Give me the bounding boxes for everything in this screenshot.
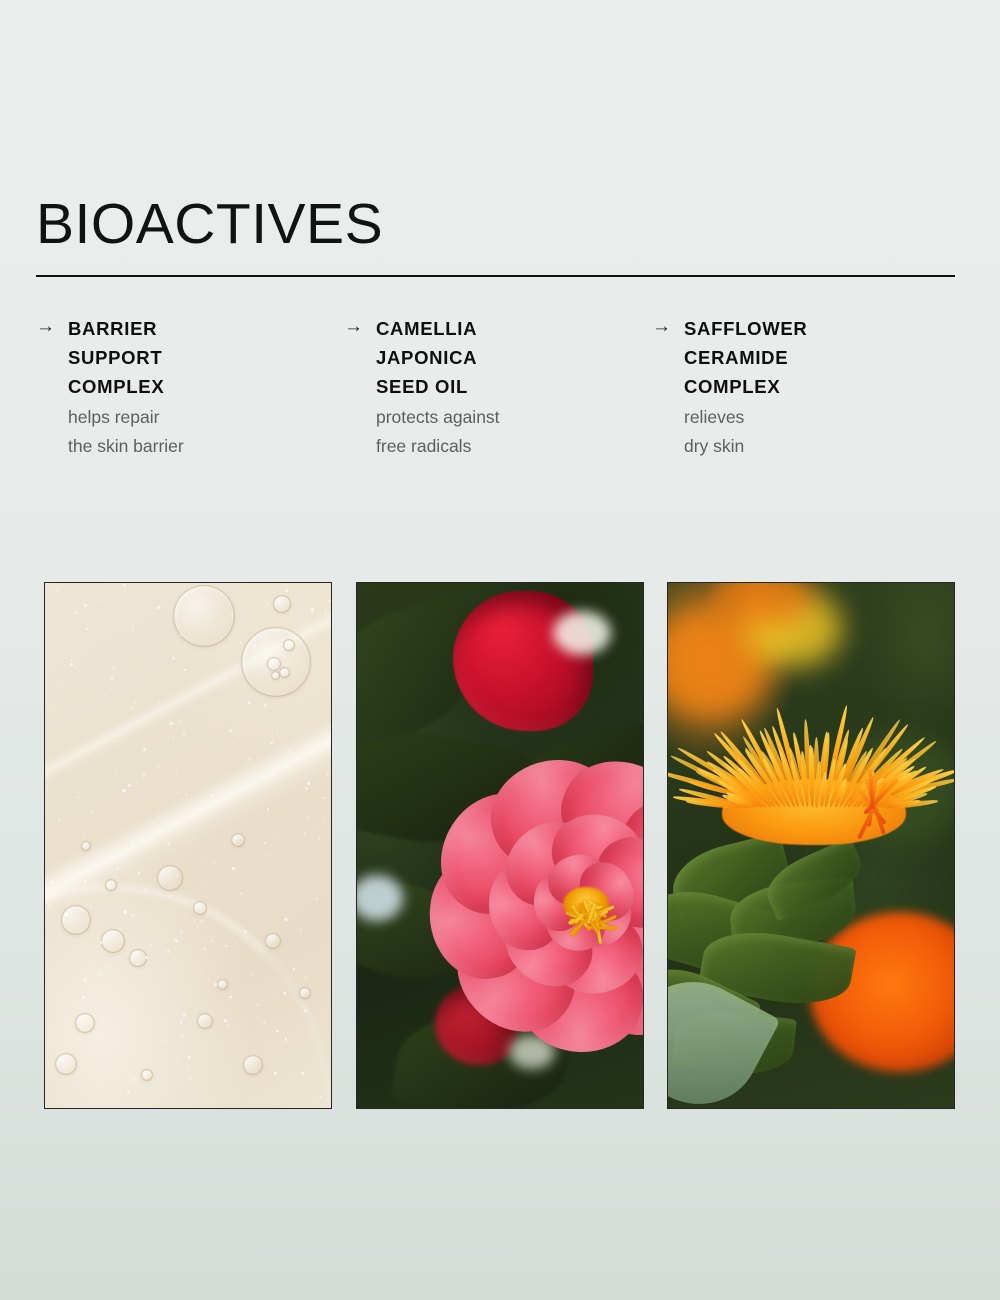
ingredient-description: protects against free radicals (376, 403, 652, 461)
bioactives-infographic: BIOACTIVES → BARRIER SUPPORT COMPLEX hel… (0, 0, 1000, 1300)
bioactive-column-camellia-japonica-seed-oil: → CAMELLIA JAPONICA SEED OIL protects ag… (344, 314, 652, 461)
title-divider (36, 275, 955, 277)
arrow-right-icon: → (652, 314, 684, 338)
gel-bubble (173, 585, 235, 647)
ingredient-image-gallery (44, 582, 955, 1109)
header: BIOACTIVES (36, 196, 955, 253)
gel-bubble (217, 979, 228, 990)
gel-bubble (105, 879, 117, 891)
gel-bubble (75, 1013, 95, 1033)
gel-bubble (157, 865, 183, 891)
ingredient-name: BARRIER SUPPORT COMPLEX (68, 314, 344, 401)
safflower-scene (668, 583, 954, 1108)
gel-bubble (61, 905, 91, 935)
bioactive-column-safflower-ceramide-complex: → SAFFLOWER CERAMIDE COMPLEX relieves dr… (652, 314, 960, 461)
arrow-right-icon: → (344, 314, 376, 338)
bioactives-list: → BARRIER SUPPORT COMPLEX helps repair t… (36, 314, 961, 461)
gel-texture-scene (45, 583, 331, 1108)
gel-bubble (101, 929, 125, 953)
camellia-bloom (425, 779, 643, 1079)
gel-bubble (231, 833, 245, 847)
camellia-scene (357, 583, 643, 1108)
ingredient-description: relieves dry skin (684, 403, 960, 461)
bioactive-text-group: CAMELLIA JAPONICA SEED OIL protects agai… (376, 314, 652, 461)
gel-bubble (299, 987, 311, 999)
gel-bubble (243, 1055, 263, 1075)
gel-bubble (141, 1069, 153, 1081)
bioactive-text-group: SAFFLOWER CERAMIDE COMPLEX relieves dry … (684, 314, 960, 461)
ingredient-description: helps repair the skin barrier (68, 403, 344, 461)
gel-bubble (283, 639, 295, 651)
gel-bubble (273, 595, 291, 613)
arrow-right-icon: → (36, 314, 68, 338)
bioactive-text-group: BARRIER SUPPORT COMPLEX helps repair the… (68, 314, 344, 461)
background-light-spot (553, 611, 611, 655)
ingredient-image-camellia-japonica-flower (356, 582, 644, 1109)
gel-bubble (197, 1013, 213, 1029)
gel-bubble (265, 933, 281, 949)
safflower-head (696, 695, 928, 845)
gel-bubble (193, 901, 207, 915)
gel-bubble (55, 1053, 77, 1075)
ingredient-name: SAFFLOWER CERAMIDE COMPLEX (684, 314, 960, 401)
gel-bubble-inner (271, 671, 280, 680)
ingredient-image-safflower-bloom (667, 582, 955, 1109)
gel-bubble (81, 841, 91, 851)
page-title: BIOACTIVES (36, 196, 955, 253)
ingredient-name: CAMELLIA JAPONICA SEED OIL (376, 314, 652, 401)
ingredient-image-serum-gel-texture (44, 582, 332, 1109)
bioactive-column-barrier-support-complex: → BARRIER SUPPORT COMPLEX helps repair t… (36, 314, 344, 461)
